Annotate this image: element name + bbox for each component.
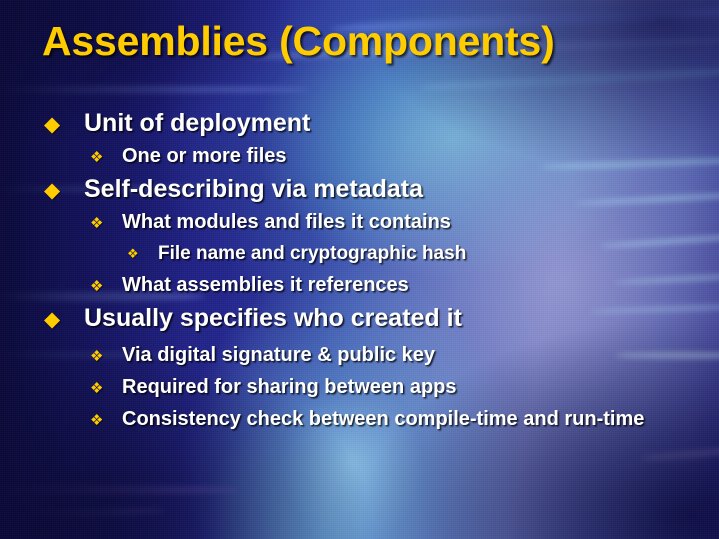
- floral-diamond-bullet-icon: ❖: [90, 407, 122, 428]
- diamond-bullet-icon: ◆: [44, 108, 84, 135]
- bullet-text: What assemblies it references: [122, 273, 409, 297]
- floral-diamond-bullet-icon: ❖: [127, 242, 158, 260]
- bullet-item-level2: ❖ Via digital signature & public key: [0, 343, 719, 367]
- diamond-bullet-icon: ◆: [44, 303, 84, 330]
- bullet-list: ◆ Unit of deployment ❖ One or more files…: [0, 108, 719, 431]
- floral-diamond-bullet-icon: ❖: [90, 375, 122, 396]
- bullet-text: Unit of deployment: [84, 108, 310, 138]
- floral-diamond-bullet-icon: ❖: [90, 343, 122, 364]
- bullet-item-level1: ◆ Self-describing via metadata: [0, 174, 719, 204]
- bullet-text: Required for sharing between apps: [122, 375, 457, 399]
- bullet-item-level2: ❖ One or more files: [0, 144, 719, 168]
- bullet-item-level2: ❖ Required for sharing between apps: [0, 375, 719, 399]
- bullet-item-level1: ◆ Unit of deployment: [0, 108, 719, 138]
- floral-diamond-bullet-icon: ❖: [90, 210, 122, 231]
- bullet-text: Consistency check between compile-time a…: [122, 407, 644, 431]
- floral-diamond-bullet-icon: ❖: [90, 144, 122, 165]
- bullet-item-level2: ❖ What assemblies it references: [0, 273, 719, 297]
- slide-title: Assemblies (Components): [42, 18, 555, 65]
- bullet-text: Usually specifies who created it: [84, 303, 462, 333]
- bullet-text: File name and cryptographic hash: [158, 242, 466, 265]
- bullet-item-level2: ❖ Consistency check between compile-time…: [0, 407, 719, 431]
- bullet-item-level3: ❖ File name and cryptographic hash: [0, 242, 719, 265]
- bullet-item-level2: ❖ What modules and files it contains: [0, 210, 719, 234]
- bullet-text: What modules and files it contains: [122, 210, 451, 234]
- bullet-text: Via digital signature & public key: [122, 343, 435, 367]
- presentation-slide: Assemblies (Components) ◆ Unit of deploy…: [0, 0, 719, 539]
- slide-content: Assemblies (Components) ◆ Unit of deploy…: [0, 0, 719, 539]
- diamond-bullet-icon: ◆: [44, 174, 84, 201]
- bullet-text: One or more files: [122, 144, 287, 168]
- bullet-text: Self-describing via metadata: [84, 174, 423, 204]
- bullet-item-level1: ◆ Usually specifies who created it: [0, 303, 719, 333]
- floral-diamond-bullet-icon: ❖: [90, 273, 122, 294]
